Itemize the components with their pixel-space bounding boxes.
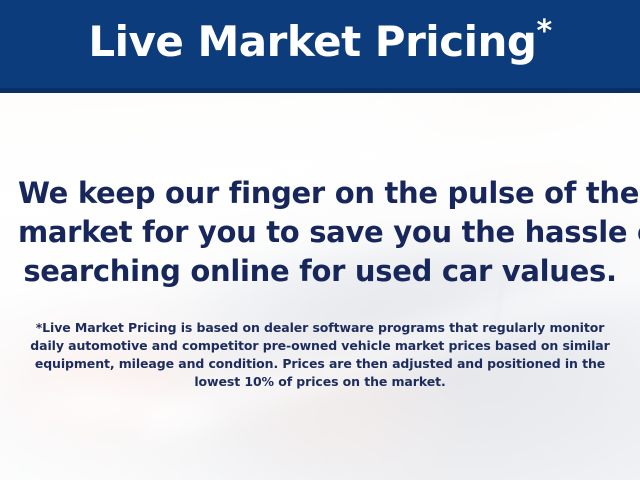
disclaimer-line: *Live Market Pricing is based on dealer … [18,319,622,337]
header-band: Live Market Pricing* [0,0,640,93]
disclaimer-line: daily automotive and competitor pre-owne… [18,337,622,355]
headline-line: searching online for used car values. [18,252,622,291]
page-title-asterisk: * [536,14,551,49]
page-title-text: Live Market Pricing [88,17,536,66]
disclaimer-line: lowest 10% of prices on the market. [18,373,622,391]
content-area: We keep our finger on the pulse of the m… [0,93,640,480]
live-market-pricing-slide: Live Market Pricing* We keep our finger … [0,0,640,480]
disclaimer-footnote: *Live Market Pricing is based on dealer … [18,291,622,391]
headline-line: We keep our finger on the pulse of the [18,174,622,213]
page-title: Live Market Pricing* [88,21,551,67]
disclaimer-line: equipment, mileage and condition. Prices… [18,355,622,373]
headline: We keep our finger on the pulse of the m… [18,93,622,291]
headline-line: market for you to save you the hassle of [18,213,622,252]
